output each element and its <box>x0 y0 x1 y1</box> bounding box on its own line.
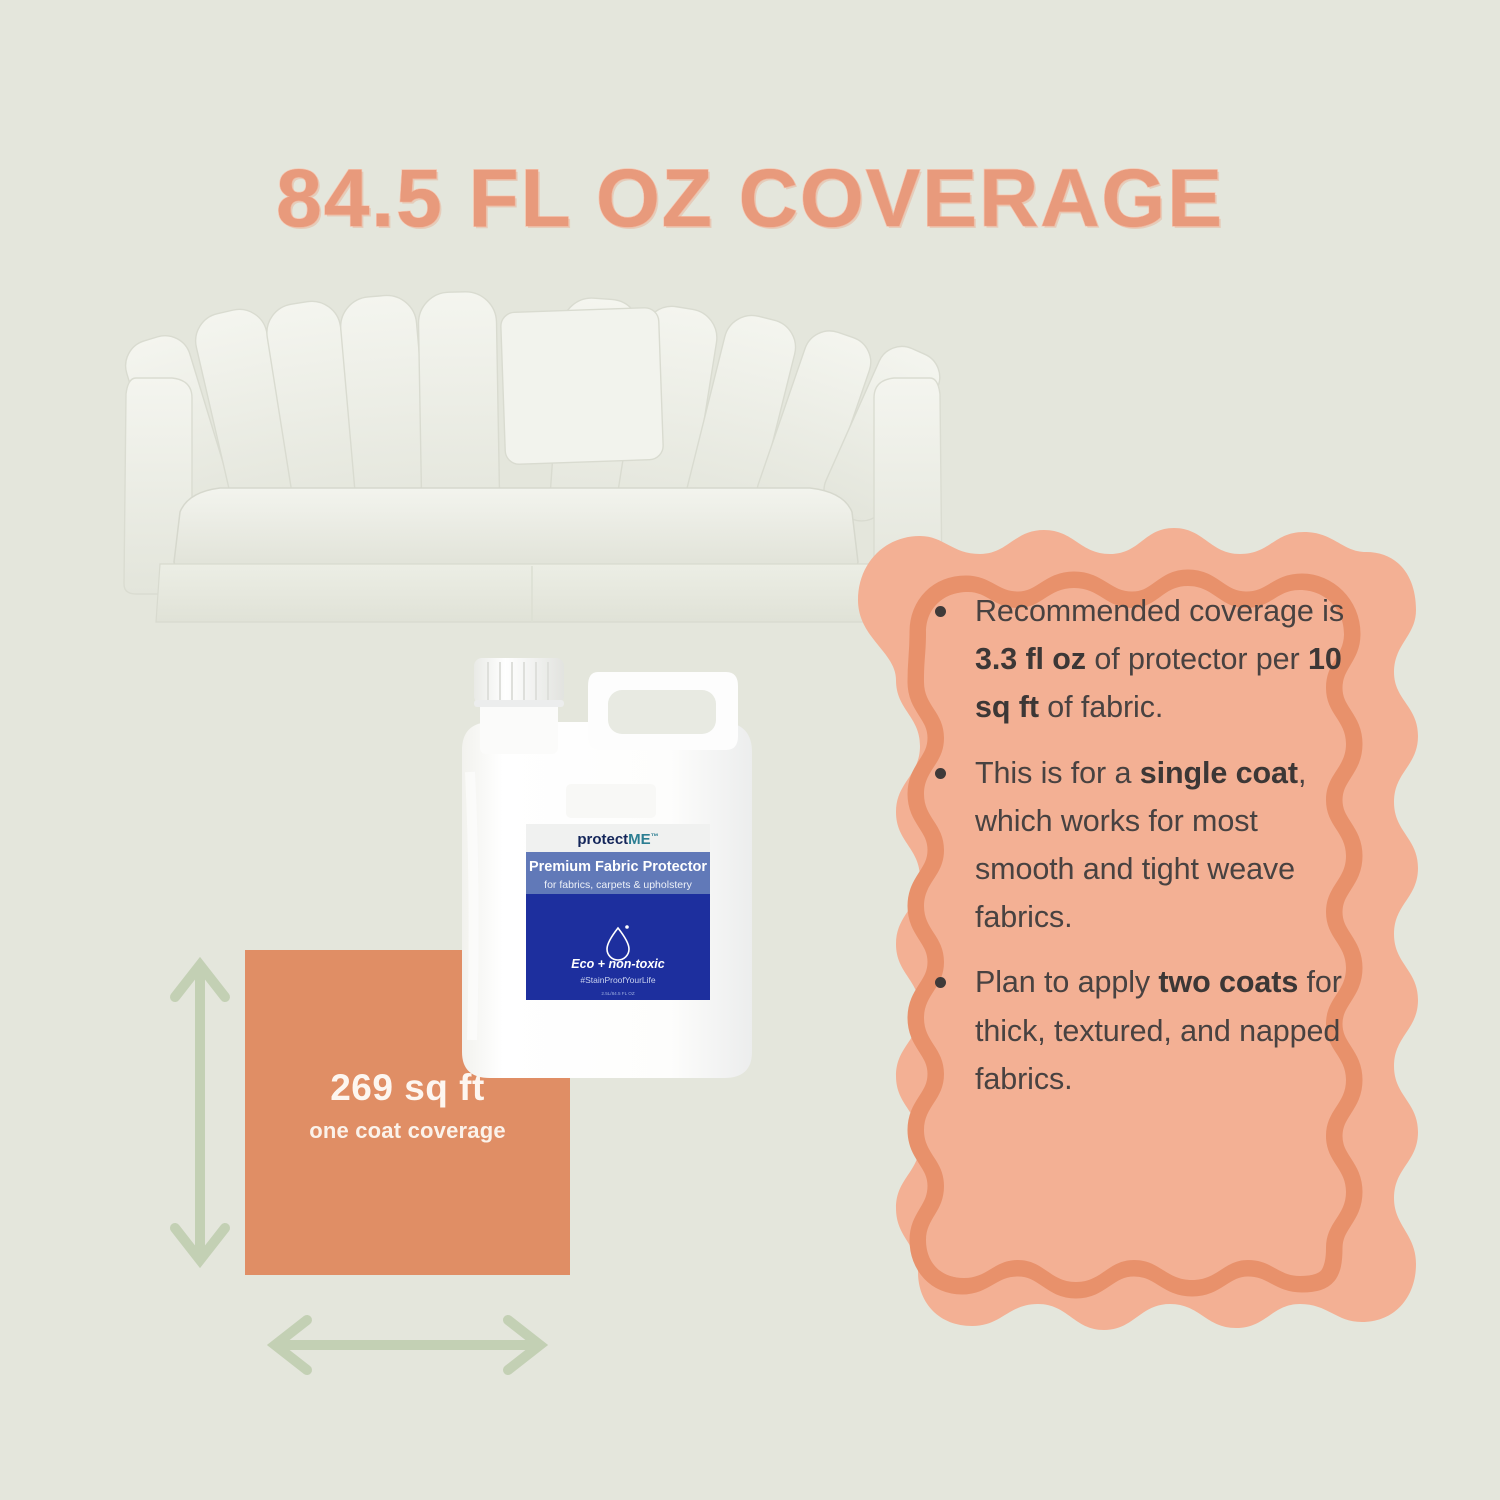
bullet-text: Recommended coverage is 3.3 fl oz of pro… <box>975 594 1344 724</box>
wavy-info-card: Recommended coverage is 3.3 fl oz of pro… <box>822 492 1450 1392</box>
bullet-text: This is for a single coat, which works f… <box>975 756 1306 935</box>
svg-text:#StainProofYourLife: #StainProofYourLife <box>580 975 656 985</box>
list-item: Recommended coverage is 3.3 fl oz of pro… <box>927 587 1357 732</box>
svg-text:for fabrics, carpets & upholst: for fabrics, carpets & upholstery <box>544 879 692 891</box>
bullet-text: Plan to apply two coats for thick, textu… <box>975 965 1342 1095</box>
bullet-dot-icon <box>935 977 946 988</box>
page-title: 84.5 FL OZ COVERAGE <box>0 152 1500 246</box>
width-dimension-arrow <box>255 1300 560 1390</box>
product-bottle: protectME™ Premium Fabric Protector for … <box>448 632 766 1084</box>
bullet-dot-icon <box>935 606 946 617</box>
svg-text:Premium Fabric Protector: Premium Fabric Protector <box>529 859 707 875</box>
list-item: This is for a single coat, which works f… <box>927 749 1357 942</box>
coverage-guidance-list: Recommended coverage is 3.3 fl oz of pro… <box>927 587 1357 1103</box>
svg-text:2.5L/84.5 FL OZ: 2.5L/84.5 FL OZ <box>601 991 634 996</box>
bottle-label: protectME™ Premium Fabric Protector for … <box>526 824 710 1000</box>
height-dimension-arrow <box>155 945 245 1280</box>
bullet-dot-icon <box>935 768 946 779</box>
svg-text:protectME™: protectME™ <box>577 831 658 848</box>
infographic-canvas: 84.5 FL OZ COVERAGE <box>0 0 1500 1500</box>
list-item: Plan to apply two coats for thick, textu… <box>927 958 1357 1103</box>
svg-text:Eco + non-toxic: Eco + non-toxic <box>571 957 664 971</box>
